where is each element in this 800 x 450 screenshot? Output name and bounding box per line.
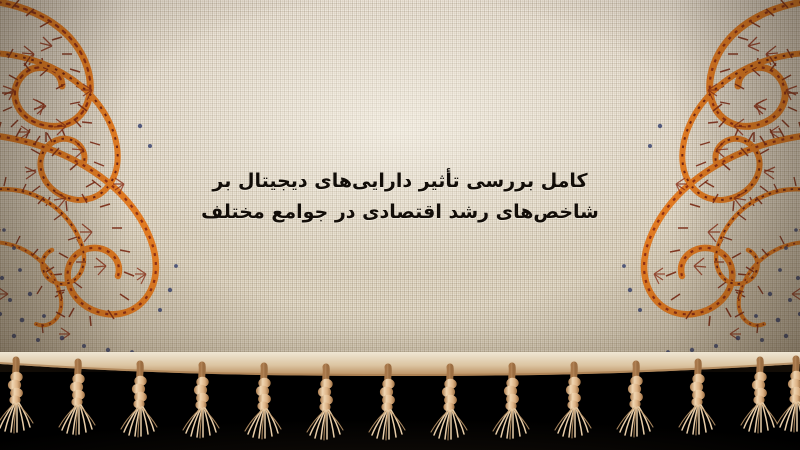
title-line-1: کامل بررسی تأثیر دارایی‌های دیجیتال بر <box>0 166 800 197</box>
page-title: کامل بررسی تأثیر دارایی‌های دیجیتال بر ش… <box>0 166 800 228</box>
title-line-2: شاخص‌های رشد اقتصادی در جوامع مختلف <box>0 197 800 228</box>
title-card: کامل بررسی تأثیر دارایی‌های دیجیتال بر ش… <box>0 0 800 450</box>
fringe-backdrop <box>0 360 800 450</box>
